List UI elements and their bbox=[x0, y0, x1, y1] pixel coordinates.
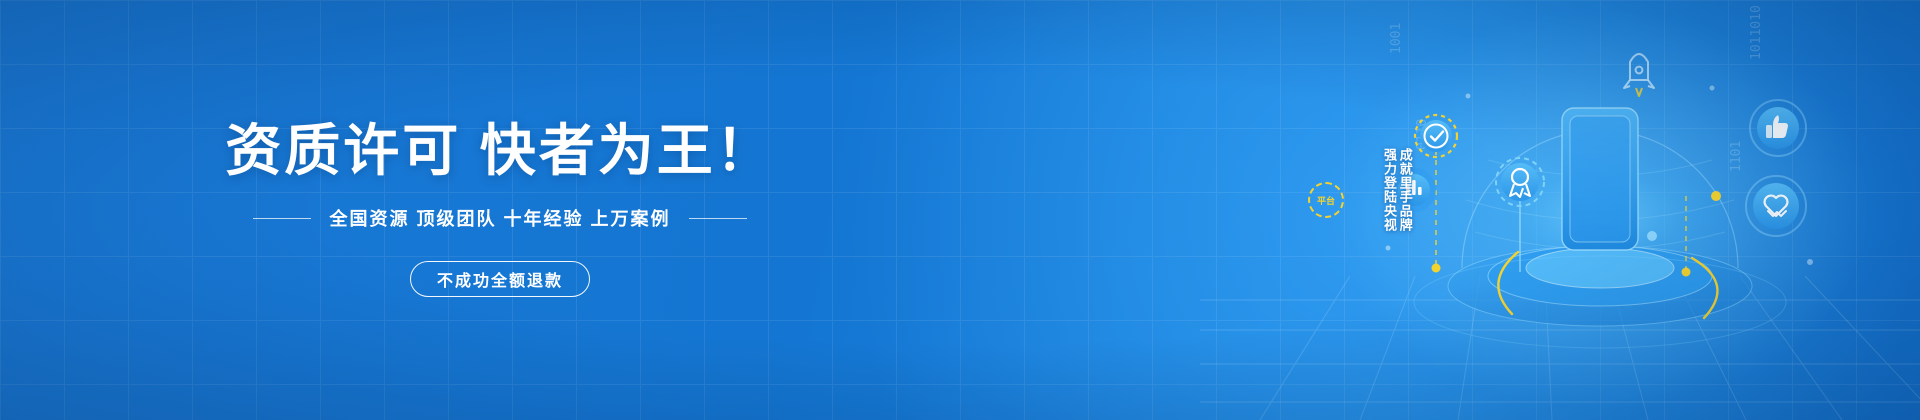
copy-block: 资质许可 快者为王！ 全国资源 顶级团队 十年经验 上万案例 不成功全额退款 bbox=[0, 0, 1000, 420]
rule-left bbox=[253, 218, 311, 219]
subtitle-row: 全国资源 顶级团队 十年经验 上万案例 bbox=[253, 205, 746, 231]
refund-guarantee-button[interactable]: 不成功全额退款 bbox=[410, 261, 590, 297]
promo-banner: 1001 0110 1011010 1101 bbox=[0, 0, 1920, 420]
rule-right bbox=[689, 218, 747, 219]
subtitle: 全国资源 顶级团队 十年经验 上万案例 bbox=[329, 205, 670, 231]
page-title: 资质许可 快者为王！ bbox=[225, 123, 775, 179]
